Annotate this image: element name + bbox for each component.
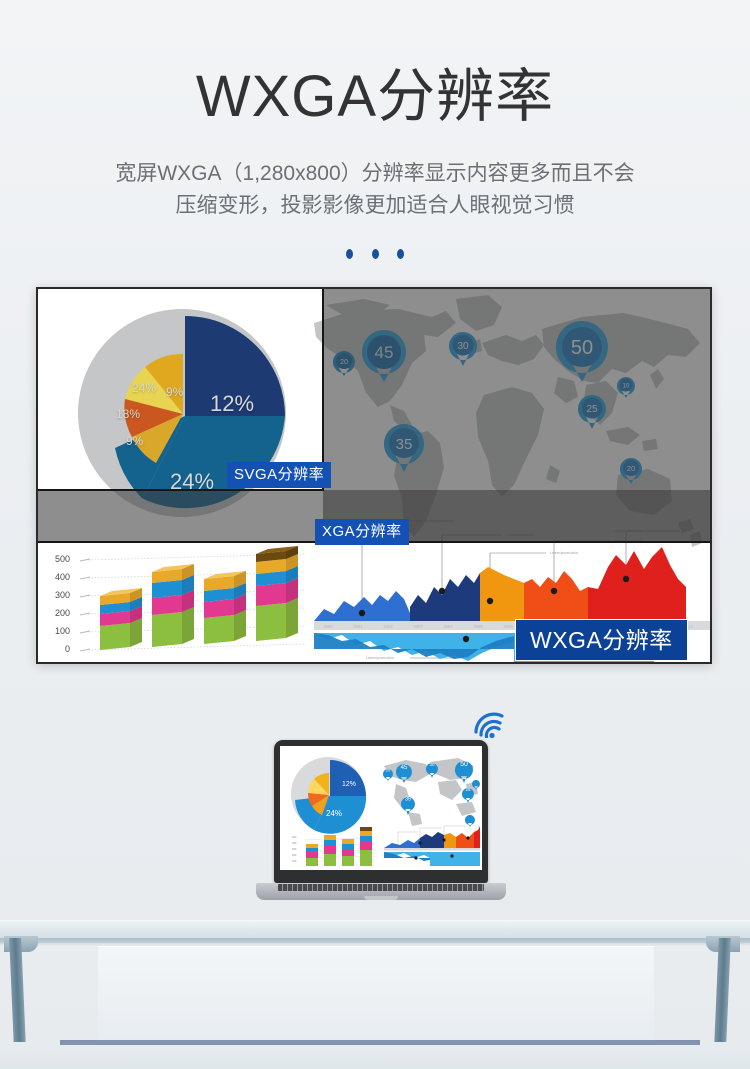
subtitle-line-1: 宽屏WXGA（1,280x800）分辨率显示内容更多而且不会 [0,158,750,190]
svg-text:2006: 2006 [503,624,513,629]
svg-text:2001: 2001 [353,624,363,629]
svg-text:300: 300 [292,847,297,851]
dim-overlay-right [323,289,712,490]
desk-shadow [0,938,750,946]
laptop-notch [364,896,398,900]
projection-screen: 12% 24% 9% 18% 24% 9% 20 45 [36,287,712,664]
svg-text:Lorem ipsum dolor: Lorem ipsum dolor [550,551,579,555]
svg-text:200: 200 [292,853,297,857]
bar-ytick-400: 400 [44,572,70,582]
pie-label-24a: 24% [132,381,156,395]
svg-text:2003: 2003 [413,624,423,629]
floor-baseboard [0,1042,750,1069]
carousel-dot[interactable] [397,249,404,259]
svg-text:100: 100 [292,859,297,863]
laptop: 20 45 30 50 25 35 12% [256,740,506,912]
floor-blue-strip [60,1040,700,1045]
svga-boundary-horizontal [38,489,324,491]
pie-label-12: 12% [210,391,254,417]
carousel-dot[interactable] [372,249,379,259]
pie-label-9b: 9% [126,434,143,448]
svg-text:2002: 2002 [383,624,393,629]
svg-text:2004: 2004 [443,624,453,629]
xga-tag[interactable]: XGA分辨率 [315,519,409,545]
svga-tag[interactable]: SVGA分辨率 [227,462,331,488]
svg-text:2005: 2005 [473,624,483,629]
bar-ytick-300: 300 [44,590,70,600]
bar-ytick-500: 500 [44,554,70,564]
bar-chart: 500 400 300 200 100 0 [44,542,324,664]
carousel-dots[interactable] [0,245,750,263]
wxga-tag[interactable]: WXGA分辨率 [515,619,688,661]
svg-text:400: 400 [292,841,297,845]
carousel-dot[interactable] [346,249,353,259]
svg-text:45: 45 [401,765,408,771]
svg-text:12%: 12% [342,781,356,788]
svg-text:30: 30 [429,762,435,767]
laptop-lid: 20 45 30 50 25 35 12% [274,740,488,883]
page-header: WXGA分辨率 宽屏WXGA（1,280x800）分辨率显示内容更多而且不会 压… [0,0,750,285]
svg-text:20: 20 [386,768,391,773]
laptop-keyboard [278,884,484,891]
laptop-screen: 20 45 30 50 25 35 12% [280,746,482,870]
svg-text:500: 500 [292,835,297,839]
svg-text:24%: 24% [326,809,342,818]
svg-text:35: 35 [405,797,411,803]
bar-ytick-200: 200 [44,608,70,618]
wifi-icon [472,712,504,738]
svg-text:2000: 2000 [323,624,333,629]
page-subtitle: 宽屏WXGA（1,280x800）分辨率显示内容更多而且不会 压缩变形，投影影像… [0,158,750,222]
bar-ytick-0: 0 [44,644,70,654]
subtitle-line-2: 压缩变形，投影影像更加适合人眼视觉习惯 [0,190,750,222]
svga-boundary-vertical [322,289,324,491]
svg-text:Lorem ipsum dolor: Lorem ipsum dolor [366,656,395,660]
svg-text:50: 50 [460,761,468,768]
pie-label-18: 18% [116,407,140,421]
pie-label-9a: 9% [166,385,183,399]
page-title: WXGA分辨率 [0,62,750,132]
bar-ytick-100: 100 [44,626,70,636]
svg-text:25: 25 [465,787,471,792]
